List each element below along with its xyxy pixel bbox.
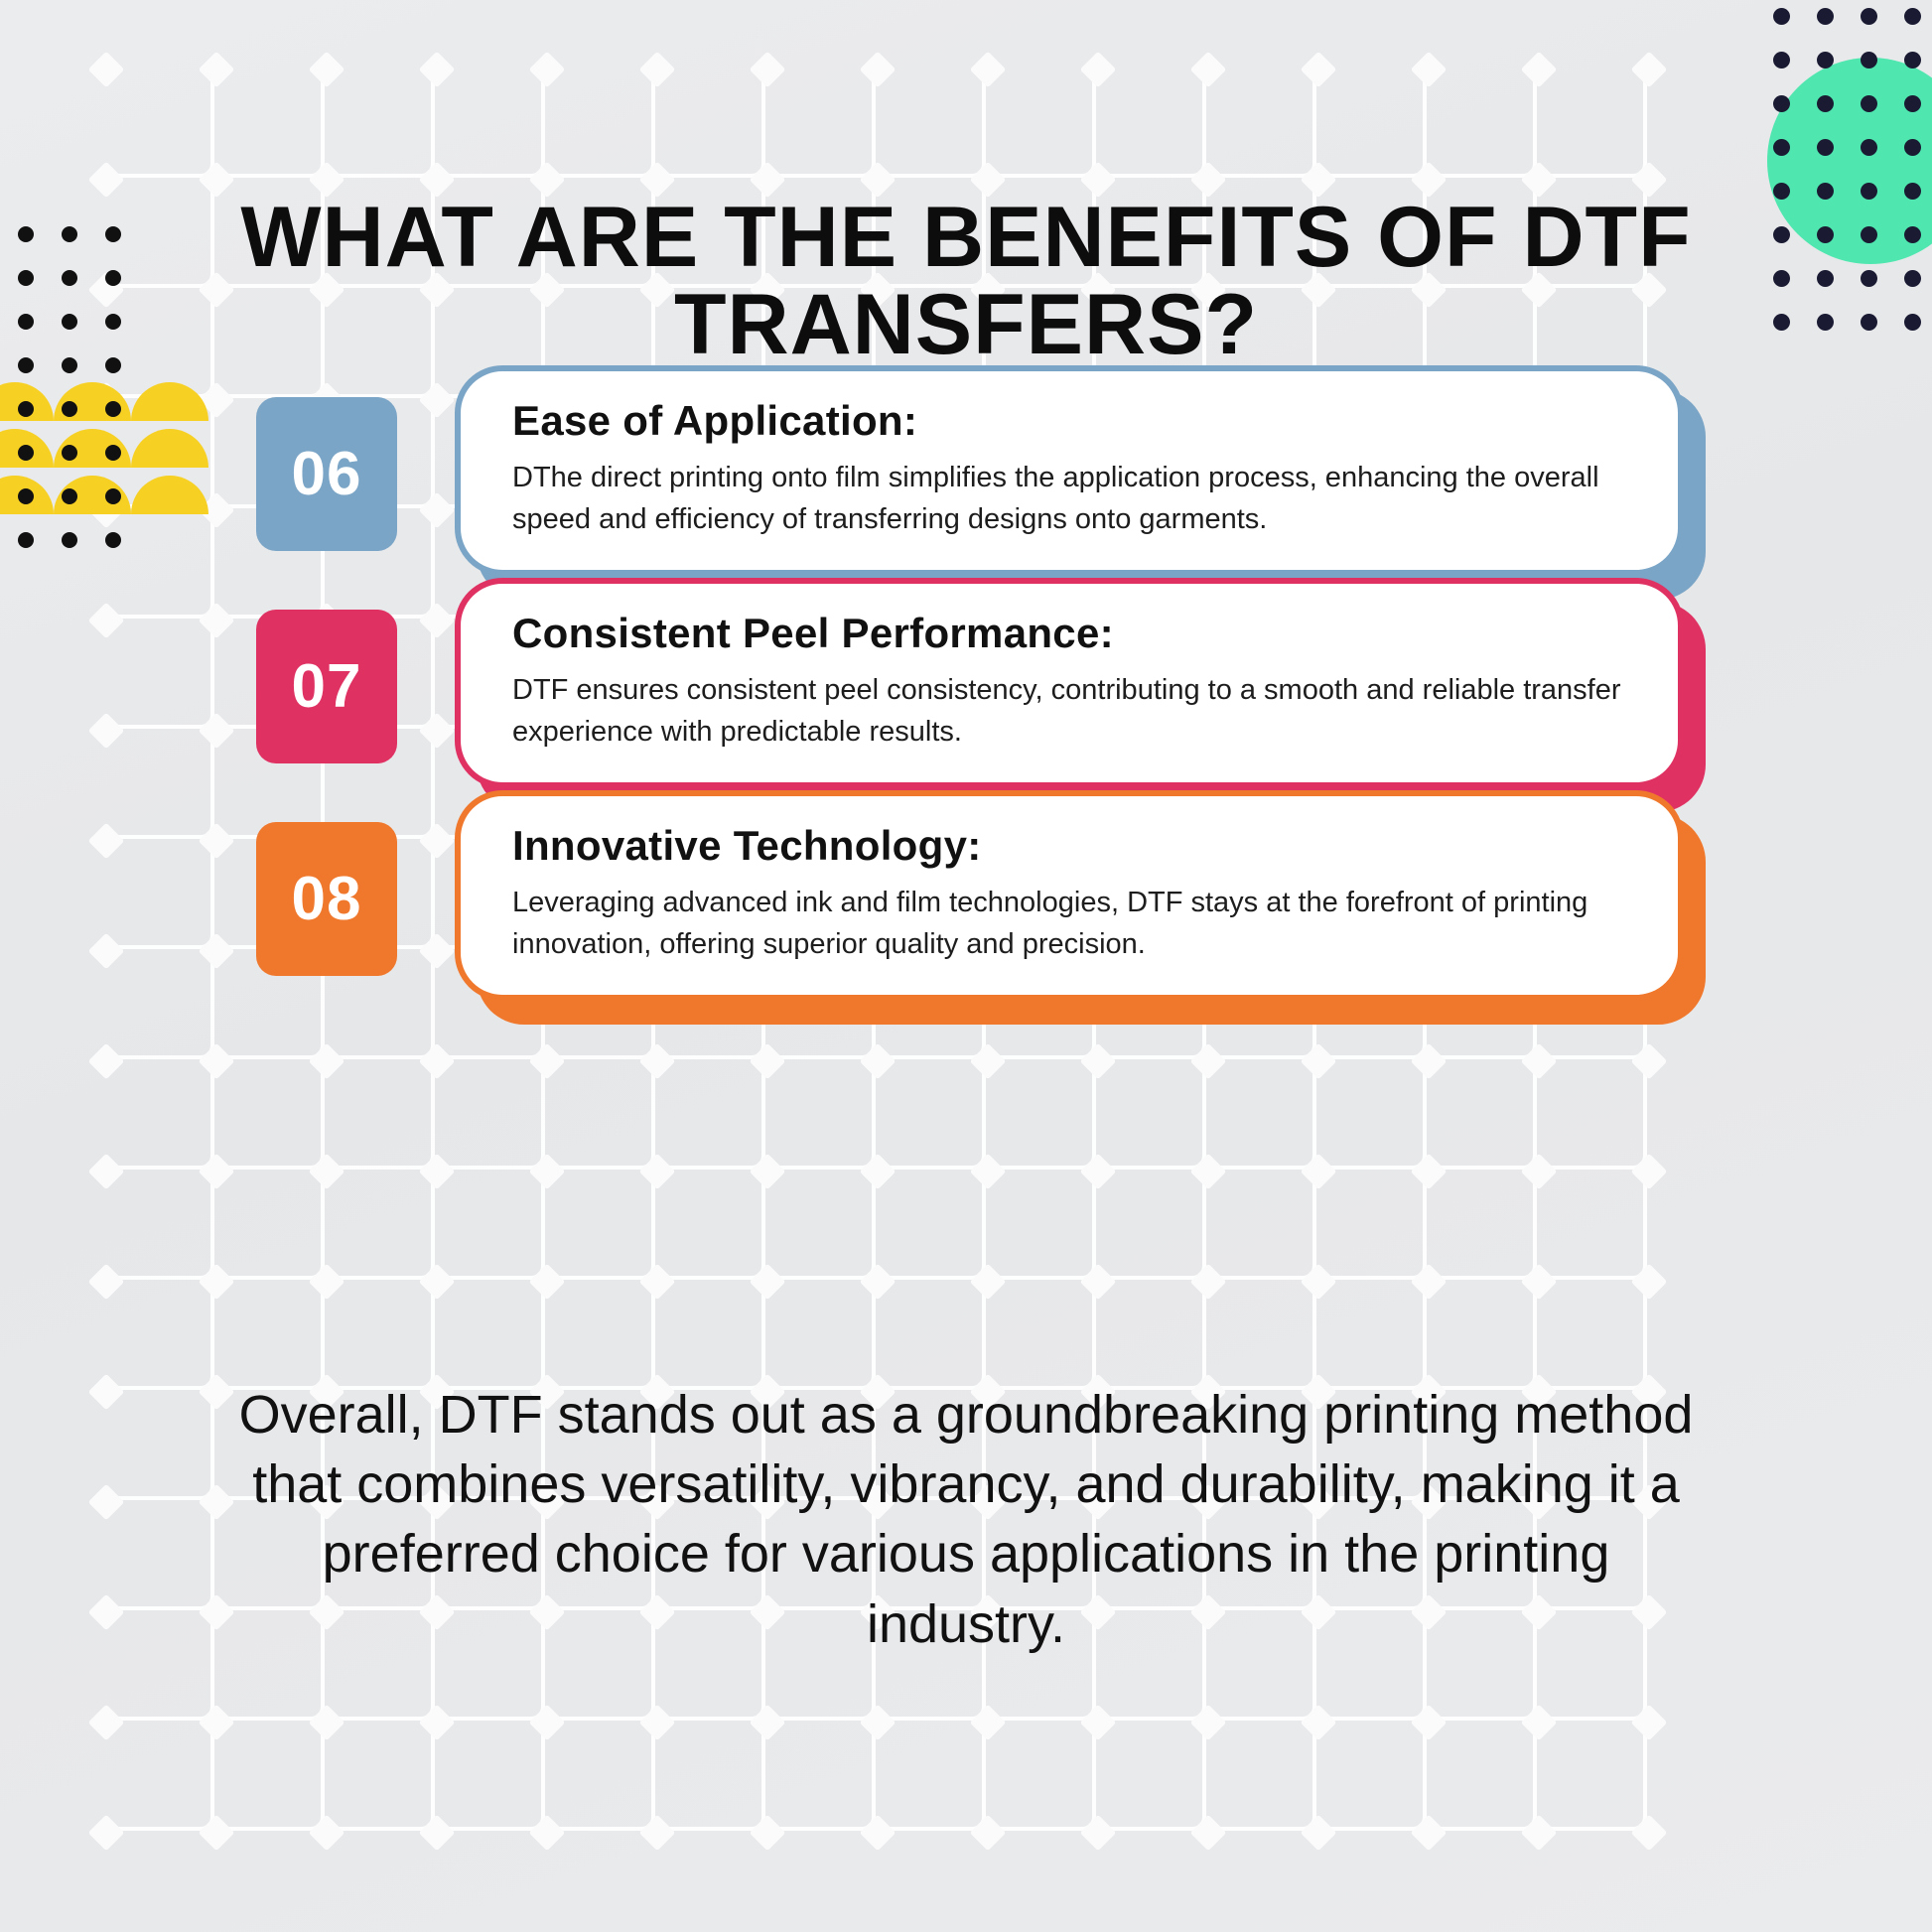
decor-dot bbox=[1861, 314, 1877, 331]
grid-cell bbox=[655, 1059, 765, 1170]
grid-cell bbox=[1316, 1059, 1427, 1170]
grid-cell bbox=[765, 1721, 876, 1831]
grid-cell bbox=[325, 1280, 435, 1390]
card-heading: Consistent Peel Performance: bbox=[512, 610, 1626, 657]
grid-cell bbox=[435, 1721, 545, 1831]
card-heading: Innovative Technology: bbox=[512, 822, 1626, 870]
grid-cell bbox=[986, 1059, 1096, 1170]
card-wrapper: Innovative Technology:Leveraging advance… bbox=[455, 790, 1684, 1001]
grid-cell bbox=[1206, 1721, 1316, 1831]
yellow-dome bbox=[131, 476, 208, 514]
decor-dot bbox=[1904, 226, 1921, 243]
grid-cell bbox=[104, 949, 214, 1059]
card-surface[interactable]: Consistent Peel Performance:DTF ensures … bbox=[455, 578, 1684, 788]
grid-cell bbox=[435, 68, 545, 178]
decor-dot bbox=[18, 401, 34, 417]
decor-dot bbox=[1904, 139, 1921, 156]
grid-cell bbox=[104, 1280, 214, 1390]
card-number: 06 bbox=[292, 439, 362, 509]
grid-cell bbox=[1096, 1170, 1206, 1280]
card-number-badge: 07 bbox=[256, 610, 397, 763]
decor-dot bbox=[18, 270, 34, 286]
decor-dot bbox=[1773, 226, 1790, 243]
grid-cell bbox=[104, 508, 214, 619]
grid-cell bbox=[1427, 68, 1537, 178]
decor-dot bbox=[18, 532, 34, 548]
decor-dot bbox=[105, 488, 121, 504]
grid-cell bbox=[765, 68, 876, 178]
decor-dot bbox=[18, 488, 34, 504]
grid-cell bbox=[1096, 1280, 1206, 1390]
grid-cell bbox=[765, 1280, 876, 1390]
decor-dot bbox=[62, 314, 77, 330]
decor-dot bbox=[1904, 8, 1921, 25]
grid-cell bbox=[1316, 1280, 1427, 1390]
grid-cell bbox=[655, 1280, 765, 1390]
grid-cell bbox=[214, 68, 325, 178]
grid-cell bbox=[1206, 1170, 1316, 1280]
grid-cell bbox=[104, 839, 214, 949]
decor-dot bbox=[105, 357, 121, 373]
decor-dot bbox=[1773, 314, 1790, 331]
decor-dot bbox=[1817, 139, 1834, 156]
decor-dot bbox=[1861, 183, 1877, 200]
decor-dot bbox=[1773, 52, 1790, 69]
decor-dot bbox=[62, 488, 77, 504]
card-body-text: DThe direct printing onto film simplifie… bbox=[512, 457, 1626, 540]
grid-cell bbox=[655, 68, 765, 178]
grid-cell bbox=[1427, 1059, 1537, 1170]
decor-dot bbox=[18, 314, 34, 330]
card-number-badge: 08 bbox=[256, 822, 397, 976]
grid-cell bbox=[1316, 68, 1427, 178]
decor-dot bbox=[1861, 270, 1877, 287]
grid-cell bbox=[214, 1059, 325, 1170]
decor-dot bbox=[18, 445, 34, 461]
decor-dot bbox=[1861, 226, 1877, 243]
grid-cell bbox=[435, 1170, 545, 1280]
page-title-line-2: TRANSFERS? bbox=[211, 282, 1721, 369]
grid-cell bbox=[765, 1059, 876, 1170]
card-number-badge: 06 bbox=[256, 397, 397, 551]
grid-cell bbox=[876, 1059, 986, 1170]
grid-cell bbox=[1427, 1280, 1537, 1390]
grid-cell bbox=[104, 1500, 214, 1610]
grid-cell bbox=[765, 1170, 876, 1280]
decor-dot bbox=[1904, 52, 1921, 69]
grid-cell bbox=[1206, 1059, 1316, 1170]
card-number: 08 bbox=[292, 864, 362, 934]
grid-cell bbox=[325, 68, 435, 178]
decor-dot bbox=[1904, 95, 1921, 112]
decor-dot bbox=[105, 401, 121, 417]
decor-dot bbox=[105, 532, 121, 548]
decor-dot bbox=[18, 226, 34, 242]
decor-dot bbox=[1861, 139, 1877, 156]
grid-cell bbox=[876, 68, 986, 178]
grid-cell bbox=[986, 68, 1096, 178]
decor-dot bbox=[1817, 270, 1834, 287]
grid-cell bbox=[1537, 68, 1647, 178]
grid-cell bbox=[214, 1721, 325, 1831]
decor-dot bbox=[105, 445, 121, 461]
decor-dot bbox=[1904, 270, 1921, 287]
grid-cell bbox=[876, 1280, 986, 1390]
grid-cell bbox=[986, 1721, 1096, 1831]
grid-cell bbox=[214, 1280, 325, 1390]
grid-cell bbox=[1537, 1059, 1647, 1170]
decor-dot bbox=[105, 314, 121, 330]
card-body-text: DTF ensures consistent peel consistency,… bbox=[512, 669, 1626, 753]
grid-cell bbox=[104, 729, 214, 839]
yellow-dome bbox=[131, 429, 208, 468]
decor-dot bbox=[1817, 8, 1834, 25]
decor-dot bbox=[1861, 52, 1877, 69]
grid-cell bbox=[655, 1170, 765, 1280]
card-body-text: Leveraging advanced ink and film technol… bbox=[512, 882, 1626, 965]
grid-cell bbox=[325, 1059, 435, 1170]
grid-cell bbox=[325, 1721, 435, 1831]
grid-cell bbox=[1537, 1721, 1647, 1831]
grid-cell bbox=[325, 1170, 435, 1280]
grid-cell bbox=[104, 619, 214, 729]
card-wrapper: Consistent Peel Performance:DTF ensures … bbox=[455, 578, 1684, 788]
decor-dot bbox=[1773, 139, 1790, 156]
decor-dot bbox=[1773, 183, 1790, 200]
decor-dot bbox=[1773, 95, 1790, 112]
grid-cell bbox=[104, 68, 214, 178]
page-title-line-1: WHAT ARE THE BENEFITS OF DTF bbox=[211, 195, 1721, 282]
card-wrapper: Ease of Application:DThe direct printing… bbox=[455, 365, 1684, 576]
decor-dot bbox=[1773, 270, 1790, 287]
grid-cell bbox=[104, 1390, 214, 1500]
decor-dot bbox=[1817, 52, 1834, 69]
card-number: 07 bbox=[292, 651, 362, 722]
grid-cell bbox=[1427, 1721, 1537, 1831]
grid-cell bbox=[104, 1059, 214, 1170]
grid-cell bbox=[104, 1170, 214, 1280]
grid-cell bbox=[545, 1170, 655, 1280]
grid-cell bbox=[1316, 1170, 1427, 1280]
decor-dot bbox=[1904, 314, 1921, 331]
grid-cell bbox=[1537, 1280, 1647, 1390]
decor-dot bbox=[105, 226, 121, 242]
decor-dot bbox=[1817, 226, 1834, 243]
grid-cell bbox=[1096, 68, 1206, 178]
grid-cell bbox=[655, 1721, 765, 1831]
grid-cell bbox=[1427, 1170, 1537, 1280]
decor-dot bbox=[62, 270, 77, 286]
grid-cell bbox=[545, 1280, 655, 1390]
grid-cell bbox=[1096, 1721, 1206, 1831]
grid-cell bbox=[986, 1170, 1096, 1280]
grid-cell bbox=[104, 1721, 214, 1831]
decor-dot bbox=[62, 445, 77, 461]
decor-dot bbox=[1904, 183, 1921, 200]
closing-paragraph: Overall, DTF stands out as a groundbreak… bbox=[228, 1380, 1704, 1659]
grid-cell bbox=[1316, 1721, 1427, 1831]
grid-cell bbox=[1096, 1059, 1206, 1170]
grid-cell bbox=[545, 68, 655, 178]
grid-cell bbox=[986, 1280, 1096, 1390]
yellow-dome bbox=[131, 382, 208, 421]
decor-dot bbox=[105, 270, 121, 286]
grid-cell bbox=[435, 1280, 545, 1390]
decor-dot bbox=[1861, 8, 1877, 25]
grid-cell bbox=[876, 1721, 986, 1831]
card-surface[interactable]: Ease of Application:DThe direct printing… bbox=[455, 365, 1684, 576]
decor-dot bbox=[18, 357, 34, 373]
decor-dot bbox=[1817, 314, 1834, 331]
grid-cell bbox=[104, 1610, 214, 1721]
grid-cell bbox=[214, 1170, 325, 1280]
decor-dot bbox=[62, 226, 77, 242]
page-title: WHAT ARE THE BENEFITS OF DTF TRANSFERS? bbox=[211, 195, 1721, 368]
grid-cell bbox=[1206, 1280, 1316, 1390]
grid-cell bbox=[876, 1170, 986, 1280]
grid-cell bbox=[1537, 1170, 1647, 1280]
grid-cell bbox=[545, 1721, 655, 1831]
decor-dot bbox=[1817, 95, 1834, 112]
card-surface[interactable]: Innovative Technology:Leveraging advance… bbox=[455, 790, 1684, 1001]
grid-cell bbox=[1206, 68, 1316, 178]
grid-cell bbox=[545, 1059, 655, 1170]
decor-dot bbox=[62, 401, 77, 417]
grid-cell bbox=[435, 1059, 545, 1170]
decor-dot bbox=[1773, 8, 1790, 25]
decor-dot bbox=[62, 357, 77, 373]
decor-dot bbox=[1817, 183, 1834, 200]
decor-dot bbox=[62, 532, 77, 548]
card-heading: Ease of Application: bbox=[512, 397, 1626, 445]
decor-dot bbox=[1861, 95, 1877, 112]
